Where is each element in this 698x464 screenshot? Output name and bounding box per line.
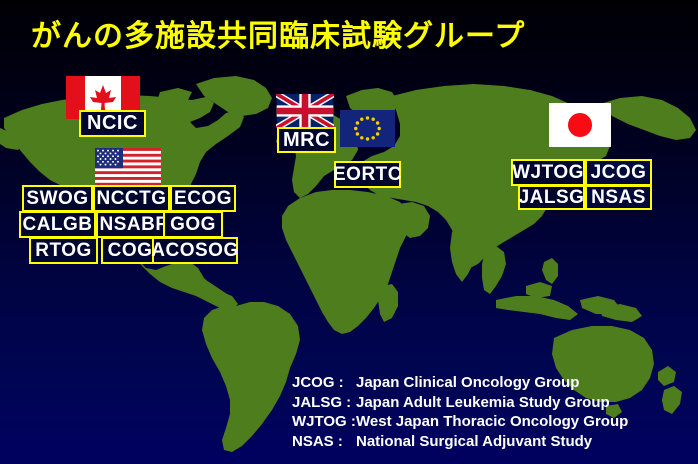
group-label-calgb[interactable]: CALGB	[19, 211, 96, 238]
group-label-rtog[interactable]: RTOG	[29, 237, 98, 264]
legend-row: WJTOG :West Japan Thoracic Oncology Grou…	[292, 412, 628, 432]
legend-abbr: NSAS :	[292, 432, 356, 452]
group-label-mrc[interactable]: MRC	[277, 127, 336, 153]
legend-abbr: WJTOG :	[292, 412, 356, 432]
legend-row: NSAS :National Surgical Adjuvant Study	[292, 432, 628, 452]
legend-abbr: JCOG :	[292, 373, 356, 393]
legend-full: West Japan Thoracic Oncology Group	[356, 413, 628, 430]
group-label-jcog[interactable]: JCOG	[585, 159, 652, 186]
group-label-acosog[interactable]: ACOSOG	[152, 237, 238, 264]
group-label-ncic[interactable]: NCIC	[79, 110, 146, 137]
group-label-swog[interactable]: SWOG	[22, 185, 93, 212]
japan-flag	[549, 103, 611, 147]
legend-full: Japan Clinical Oncology Group	[356, 374, 579, 391]
eu-flag	[340, 110, 395, 147]
legend-full: National Surgical Adjuvant Study	[356, 433, 592, 450]
legend: JCOG :Japan Clinical Oncology Group JALS…	[292, 373, 628, 451]
slide-canvas: がんの多施設共同臨床試験グループ	[0, 0, 698, 464]
legend-full: Japan Adult Leukemia Study Group	[356, 394, 610, 411]
group-label-nsas[interactable]: NSAS	[585, 185, 652, 210]
legend-row: JCOG :Japan Clinical Oncology Group	[292, 373, 628, 393]
group-label-ecog[interactable]: ECOG	[170, 185, 236, 212]
group-label-ncctg[interactable]: NCCTG	[93, 185, 170, 212]
usa-flag	[95, 148, 161, 186]
group-label-gog[interactable]: GOG	[163, 211, 223, 238]
legend-row: JALSG :Japan Adult Leukemia Study Group	[292, 393, 628, 413]
group-label-jalsg[interactable]: JALSG	[518, 185, 585, 210]
group-label-wjtog[interactable]: WJTOG	[511, 159, 585, 186]
group-label-nsabp[interactable]: NSABP	[96, 211, 172, 238]
group-label-eortc[interactable]: EORTC	[334, 161, 401, 188]
legend-abbr: JALSG :	[292, 393, 356, 413]
slide-title: がんの多施設共同臨床試験グループ	[31, 18, 525, 56]
uk-flag	[276, 94, 334, 128]
